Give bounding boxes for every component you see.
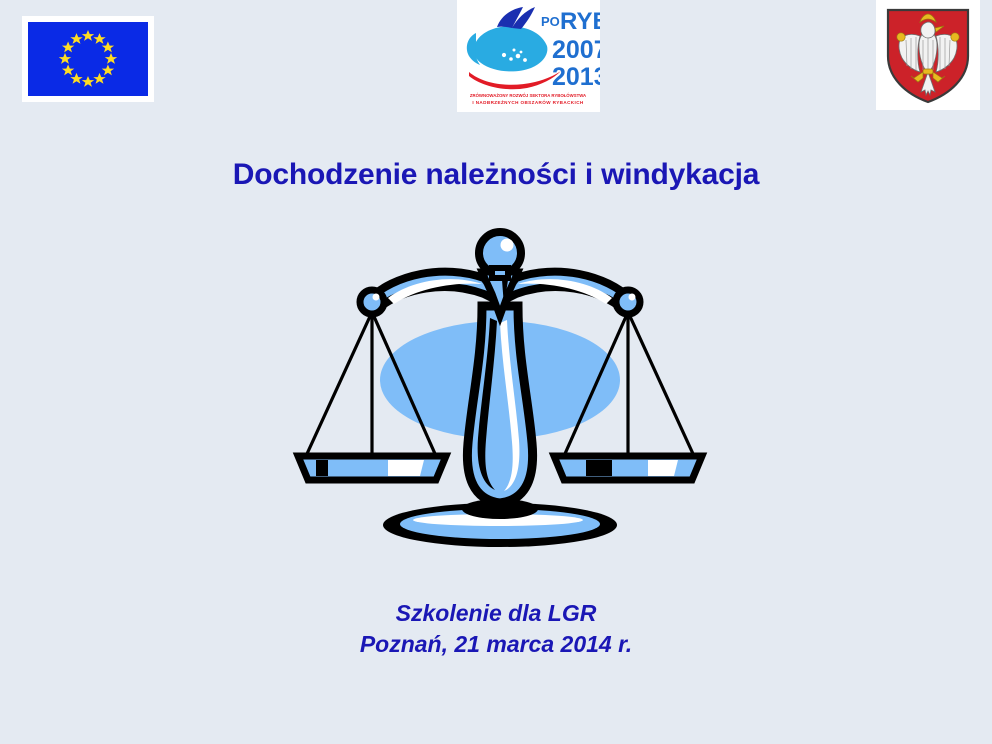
- po-ryby-tagline-line2: I NADBRZEŻNYCH OBSZARÓW RYBACKICH: [472, 98, 584, 105]
- po-ryby-tagline-line1: ZRÓWNOWAŻONY ROZWÓJ SEKTORA RYBOŁÓWSTWA: [470, 93, 586, 98]
- po-ryby-ryby-text: RYBY: [560, 8, 600, 35]
- po-ryby-logo-icon: PO RYBY 2007 2013 ZRÓWNOWAŻONY ROZWÓJ SE…: [457, 0, 600, 112]
- eu-flag-icon: [22, 16, 154, 102]
- balance-scales-of-justice: [276, 228, 724, 568]
- presentation-slide: PO RYBY 2007 2013 ZRÓWNOWAŻONY ROZWÓJ SE…: [0, 0, 992, 744]
- po-ryby-year-from: 2007: [552, 36, 600, 64]
- po-ryby-programme-logo: PO RYBY 2007 2013 ZRÓWNOWAŻONY ROZWÓJ SE…: [457, 0, 600, 112]
- wielkopolska-coat-of-arms: [876, 0, 980, 110]
- european-union-flag: [22, 16, 154, 102]
- page-title: Dochodzenie należności i windykacja: [0, 158, 992, 192]
- scales-icon: [276, 228, 724, 568]
- po-ryby-po-text: PO: [541, 14, 560, 29]
- footer-line-1: Szkolenie dla LGR: [0, 598, 992, 629]
- coat-of-arms-icon: [876, 0, 980, 110]
- po-ryby-year-to: 2013: [552, 63, 600, 91]
- slide-footer: Szkolenie dla LGR Poznań, 21 marca 2014 …: [0, 598, 992, 659]
- footer-line-2: Poznań, 21 marca 2014 r.: [0, 629, 992, 660]
